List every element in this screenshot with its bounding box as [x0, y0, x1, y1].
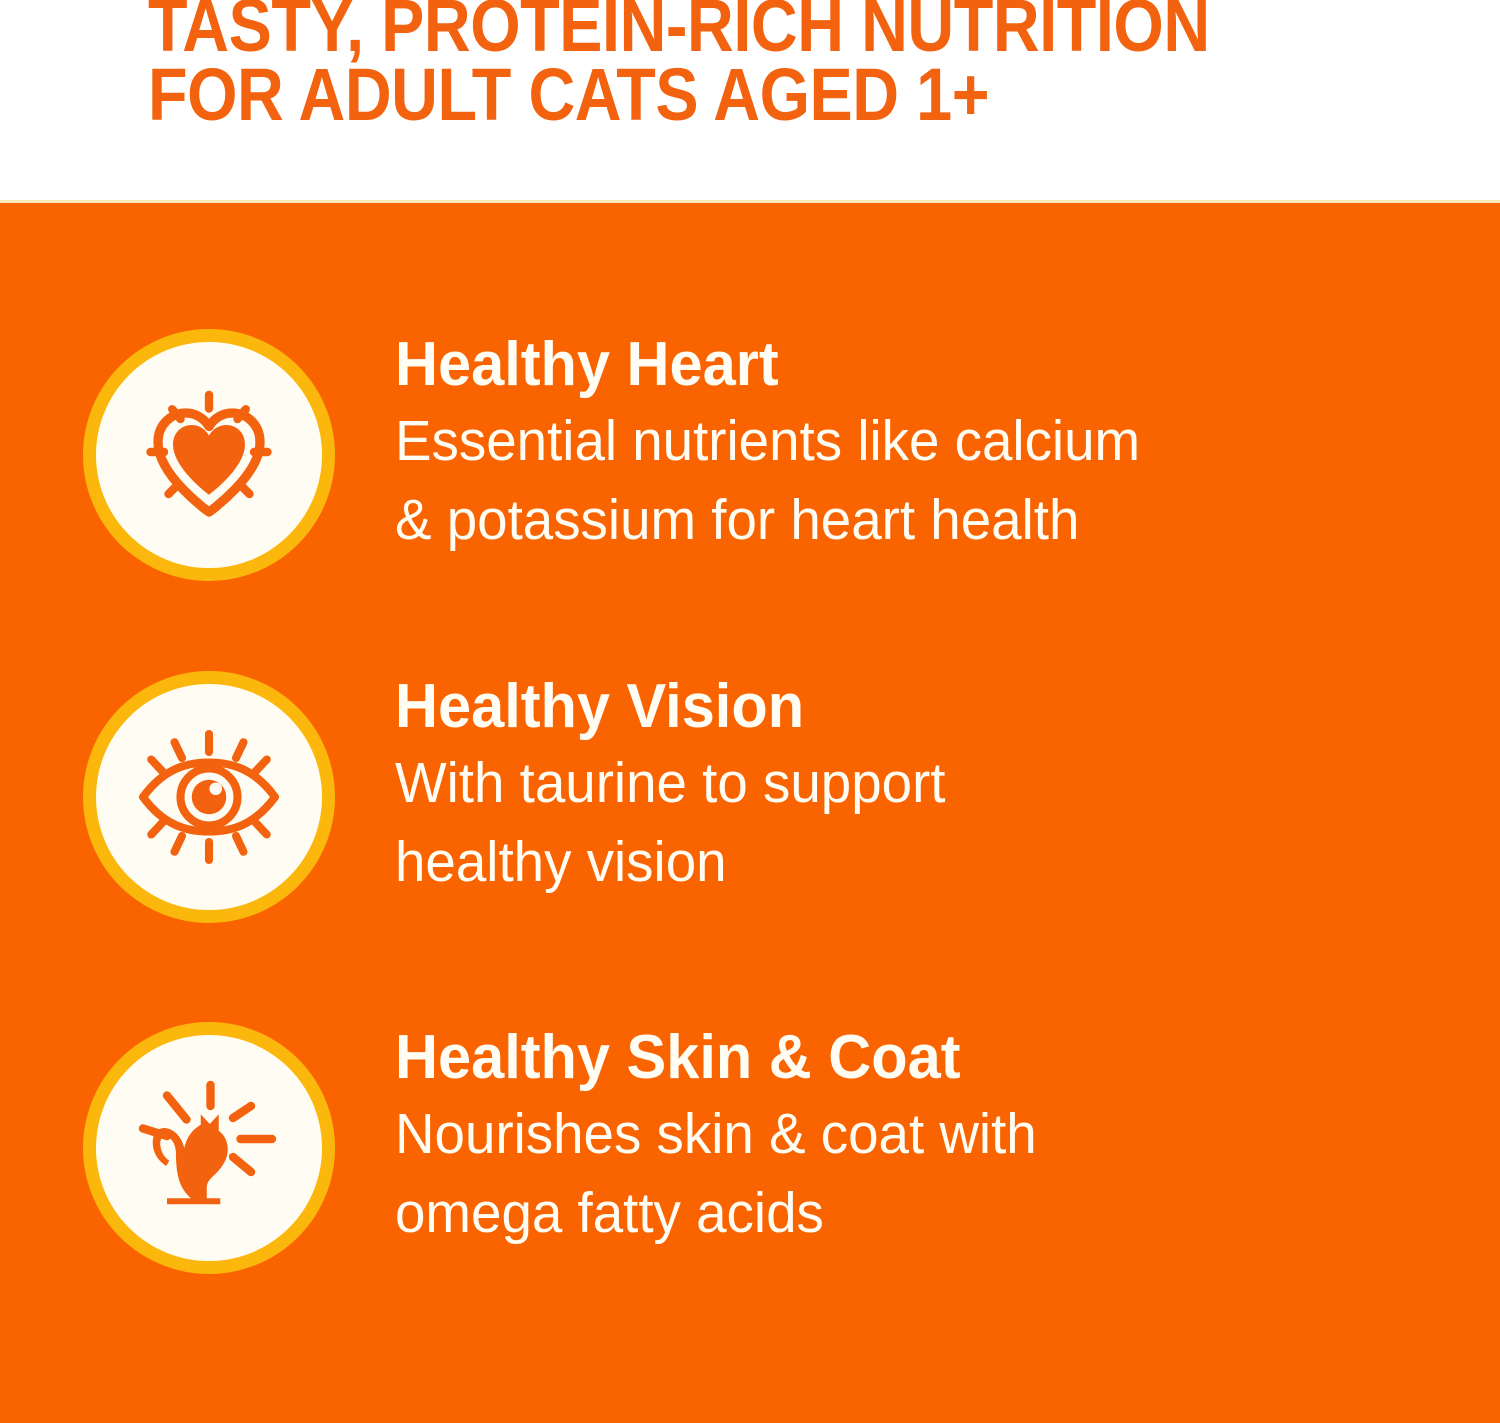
radiant-cat-icon [134, 1073, 284, 1223]
icon-badge [83, 1022, 335, 1274]
benefit-text: Healthy Heart Essential nutrients like c… [395, 327, 1171, 560]
benefit-item-healthy-heart: Healthy Heart Essential nutrients like c… [0, 327, 1500, 583]
benefit-item-healthy-skin-and-coat: Healthy Skin & Coat Nourishes skin & coa… [0, 1020, 1500, 1276]
radiant-eye-icon [134, 722, 284, 872]
page-title: Tasty, protein-rich nutrition for adult … [148, 0, 1303, 130]
benefit-description: Essential nutrients like calcium & potas… [395, 402, 1140, 559]
icon-slot [0, 327, 395, 583]
benefits-panel: Healthy Heart Essential nutrients like c… [0, 203, 1500, 1423]
benefit-description: Nourishes skin & coat with omega fatty a… [395, 1095, 1037, 1252]
benefit-item-healthy-vision: Healthy Vision With taurine to support h… [0, 669, 1500, 925]
benefit-text: Healthy Skin & Coat Nourishes skin & coa… [395, 1020, 1063, 1253]
headline-band: Tasty, protein-rich nutrition for adult … [0, 0, 1500, 203]
icon-slot [0, 669, 395, 925]
benefit-title: Healthy Vision [395, 675, 946, 738]
benefit-description: With taurine to support healthy vision [395, 744, 946, 901]
benefit-title: Healthy Heart [395, 333, 1140, 396]
icon-badge [83, 671, 335, 923]
icon-slot [0, 1020, 395, 1276]
icon-badge [83, 329, 335, 581]
promo-graphic: Tasty, protein-rich nutrition for adult … [0, 0, 1500, 1423]
benefit-text: Healthy Vision With taurine to support h… [395, 669, 968, 902]
radiant-heart-icon [134, 380, 284, 530]
benefit-title: Healthy Skin & Coat [395, 1026, 1037, 1089]
